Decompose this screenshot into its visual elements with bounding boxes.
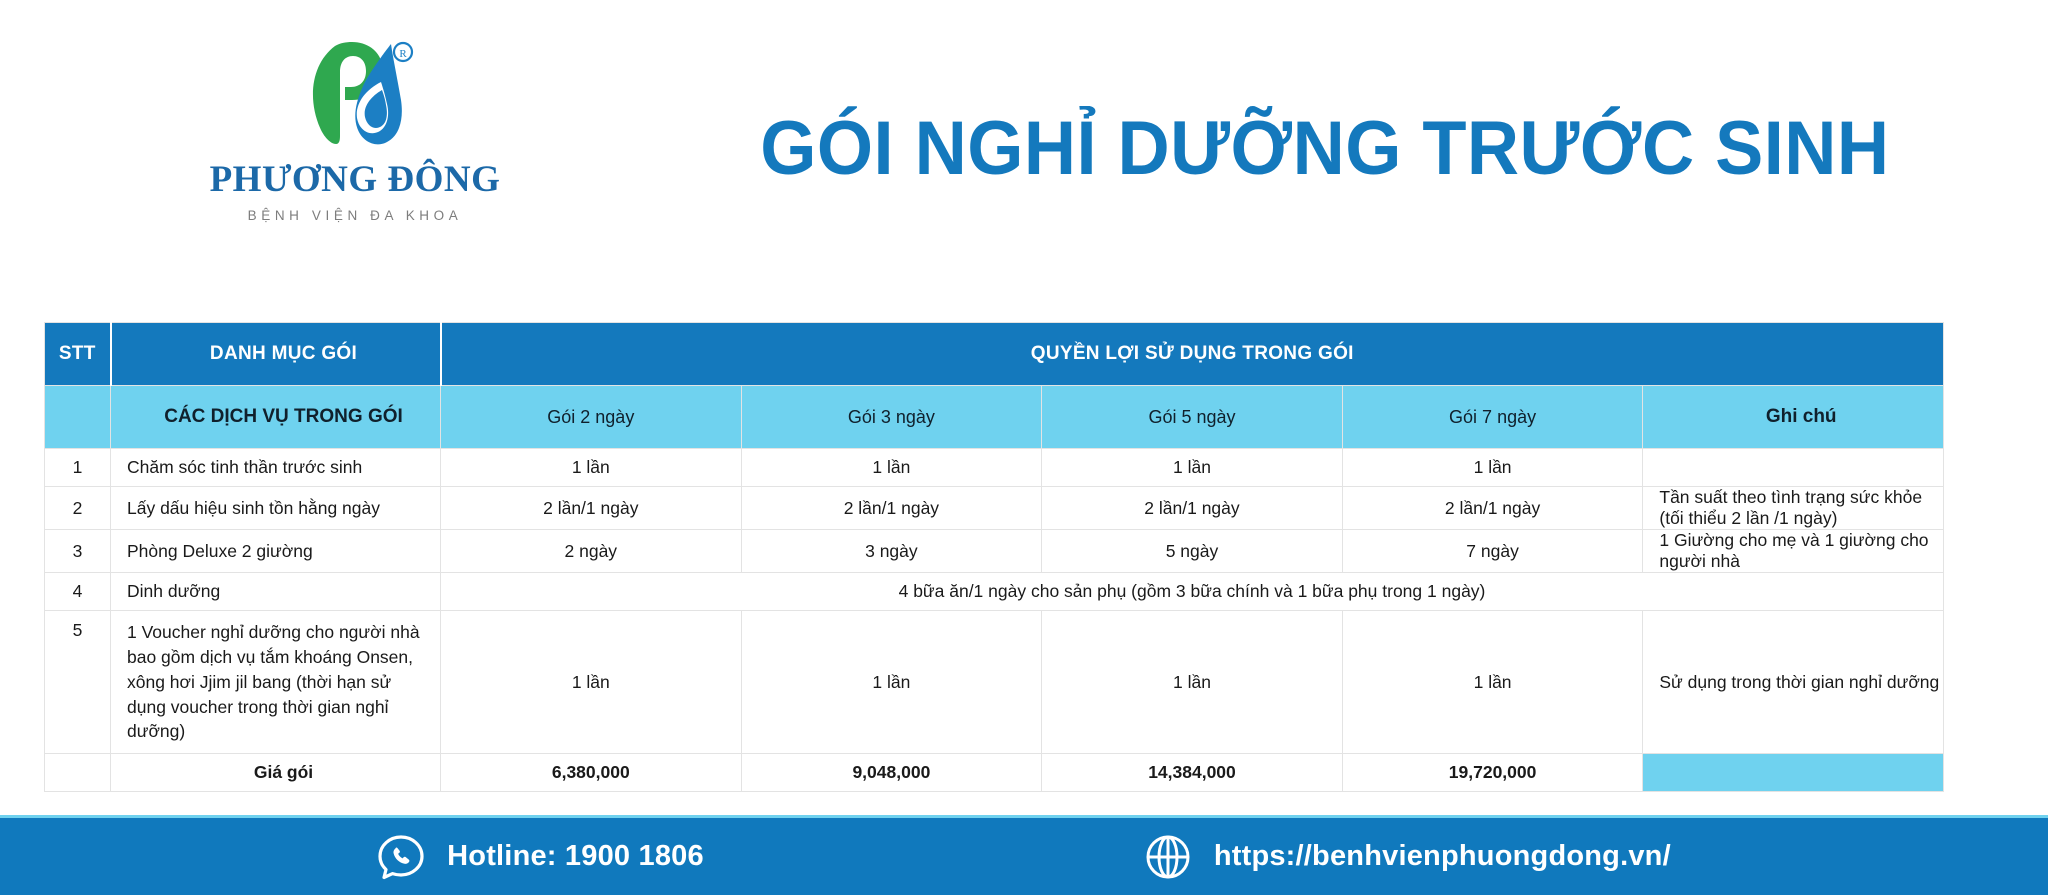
row-note: Sử dụng trong thời gian nghỉ dưỡng — [1643, 611, 1944, 754]
hotline-text: Hotline: 1900 1806 — [447, 840, 704, 873]
table-row: 3 Phòng Deluxe 2 giường 2 ngày 3 ngày 5 … — [45, 530, 1944, 573]
header: R PHƯƠNG ĐÔNG BỆNH VIỆN ĐA KHOA GÓI NGHỈ… — [0, 0, 2048, 300]
header-pkg-3: Gói 3 ngày — [741, 386, 1042, 449]
table-header-row-sub: CÁC DỊCH VỤ TRONG GÓI Gói 2 ngày Gói 3 n… — [45, 386, 1944, 449]
footer-website[interactable]: https://benhvienphuongdong.vn/ — [1144, 833, 1671, 881]
header-services: CÁC DỊCH VỤ TRONG GÓI — [111, 386, 441, 449]
website-text: https://benhvienphuongdong.vn/ — [1214, 840, 1671, 873]
row-pkg-2: 1 lần — [441, 611, 742, 754]
header-pkg-5: Gói 5 ngày — [1042, 386, 1343, 449]
row-pkg-3: 2 lần/1 ngày — [741, 487, 1042, 530]
page-title: GÓI NGHỈ DƯỠNG TRƯỚC SINH — [760, 105, 1720, 192]
row-pkg-2: 2 ngày — [441, 530, 742, 573]
row-stt: 3 — [45, 530, 111, 573]
brand-name: PHƯƠNG ĐÔNG — [210, 158, 501, 201]
table-row: 2 Lấy dấu hiệu sinh tồn hằng ngày 2 lần/… — [45, 487, 1944, 530]
package-table: STT DANH MỤC GÓI QUYỀN LỢI SỬ DỤNG TRONG… — [44, 322, 1944, 792]
price-label: Giá gói — [111, 754, 441, 792]
row-service-name: Lấy dấu hiệu sinh tồn hằng ngày — [111, 487, 441, 530]
row-pkg-3: 1 lần — [741, 449, 1042, 487]
header-benefits: QUYỀN LỢI SỬ DỤNG TRONG GÓI — [441, 323, 1944, 386]
poster-page: R PHƯƠNG ĐÔNG BỆNH VIỆN ĐA KHOA GÓI NGHỈ… — [0, 0, 2048, 895]
price-row: Giá gói 6,380,000 9,048,000 14,384,000 1… — [45, 754, 1944, 792]
price-pkg-5: 14,384,000 — [1042, 754, 1343, 792]
package-table-wrapper: STT DANH MỤC GÓI QUYỀN LỢI SỬ DỤNG TRONG… — [44, 322, 1944, 792]
row-pkg-3: 1 lần — [741, 611, 1042, 754]
row-service-name: Phòng Deluxe 2 giường — [111, 530, 441, 573]
row-pkg-2: 2 lần/1 ngày — [441, 487, 742, 530]
header-pkg-7: Gói 7 ngày — [1342, 386, 1643, 449]
footer-hotline[interactable]: Hotline: 1900 1806 — [377, 833, 704, 881]
table-body: 1 Chăm sóc tinh thần trước sinh 1 lần 1 … — [45, 449, 1944, 792]
row-note: Tần suất theo tình trạng sức khỏe (tối t… — [1643, 487, 1944, 530]
row-note — [1643, 449, 1944, 487]
price-label-stt — [45, 754, 111, 792]
row-pkg-2: 1 lần — [441, 449, 742, 487]
row-stt: 1 — [45, 449, 111, 487]
phone-bubble-icon — [377, 833, 425, 881]
table-row: 1 Chăm sóc tinh thần trước sinh 1 lần 1 … — [45, 449, 1944, 487]
svg-text:R: R — [399, 48, 407, 60]
price-pkg-3: 9,048,000 — [741, 754, 1042, 792]
globe-icon — [1144, 833, 1192, 881]
header-pkg-2: Gói 2 ngày — [441, 386, 742, 449]
price-note — [1643, 754, 1944, 792]
header-sub-blank — [45, 386, 111, 449]
row-service-name: Chăm sóc tinh thần trước sinh — [111, 449, 441, 487]
header-category: DANH MỤC GÓI — [111, 323, 441, 386]
row-pkg-7: 1 lần — [1342, 611, 1643, 754]
row-stt: 2 — [45, 487, 111, 530]
row-pkg-7: 1 lần — [1342, 449, 1643, 487]
header-note: Ghi chú — [1643, 386, 1944, 449]
header-stt: STT — [45, 323, 111, 386]
table-row: 5 1 Voucher nghỉ dưỡng cho người nhà bao… — [45, 611, 1944, 754]
brand-block: R PHƯƠNG ĐÔNG BỆNH VIỆN ĐA KHOA — [215, 38, 495, 223]
row-pkg-7: 7 ngày — [1342, 530, 1643, 573]
row-pkg-5: 5 ngày — [1042, 530, 1343, 573]
phuong-dong-leaf-logo: R — [295, 38, 415, 150]
table-header-row-top: STT DANH MỤC GÓI QUYỀN LỢI SỬ DỤNG TRONG… — [45, 323, 1944, 386]
table-head: STT DANH MỤC GÓI QUYỀN LỢI SỬ DỤNG TRONG… — [45, 323, 1944, 449]
row-service-name: 1 Voucher nghỉ dưỡng cho người nhà bao g… — [111, 611, 441, 754]
price-pkg-2: 6,380,000 — [441, 754, 742, 792]
row-pkg-7: 2 lần/1 ngày — [1342, 487, 1643, 530]
price-pkg-7: 19,720,000 — [1342, 754, 1643, 792]
row-stt: 4 — [45, 573, 111, 611]
row-stt: 5 — [45, 611, 111, 754]
row-service-name: Dinh dưỡng — [111, 573, 441, 611]
brand-subtitle: BỆNH VIỆN ĐA KHOA — [248, 208, 463, 223]
row-pkg-5: 1 lần — [1042, 611, 1343, 754]
footer-bar: Hotline: 1900 1806 https://benhvienphuon… — [0, 815, 2048, 895]
table-row: 4 Dinh dưỡng 4 bữa ăn/1 ngày cho sản phụ… — [45, 573, 1944, 611]
row-note: 1 Giường cho mẹ và 1 giường cho người nh… — [1643, 530, 1944, 573]
row-pkg-3: 3 ngày — [741, 530, 1042, 573]
row-pkg-5: 2 lần/1 ngày — [1042, 487, 1343, 530]
row-pkg-5: 1 lần — [1042, 449, 1343, 487]
row-merged-value: 4 bữa ăn/1 ngày cho sản phụ (gồm 3 bữa c… — [441, 573, 1944, 611]
